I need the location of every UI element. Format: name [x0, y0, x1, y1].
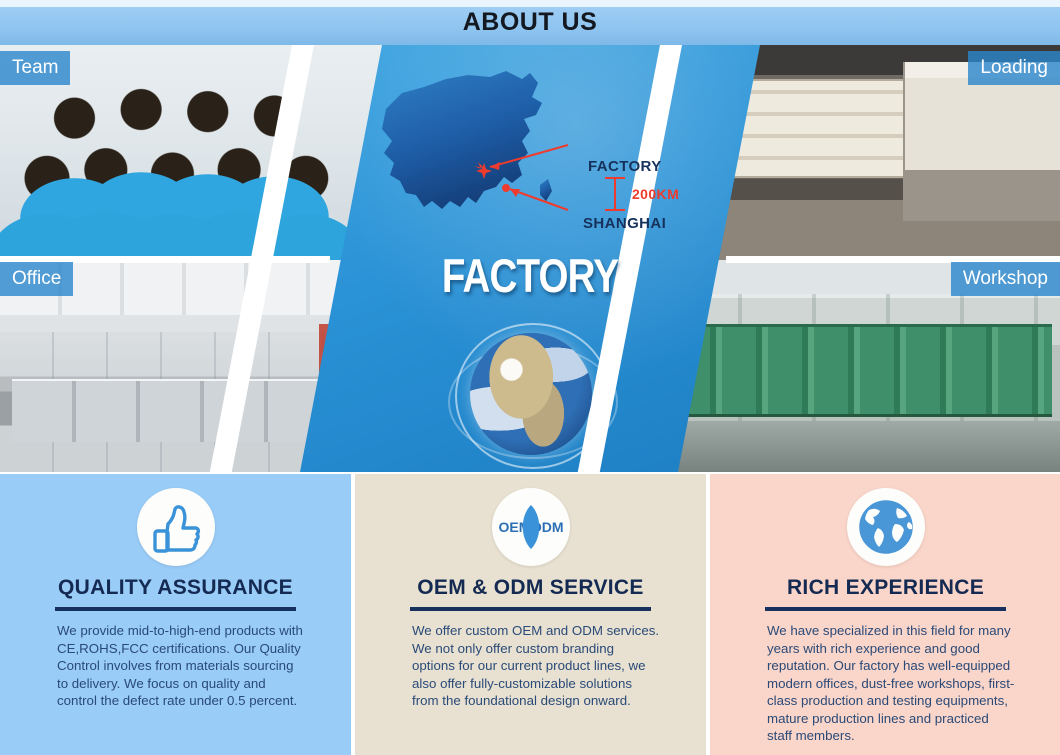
card-body: We provide mid-to-high-end products with…	[57, 622, 305, 710]
oem-odm-icon: OEM ODM	[492, 488, 570, 566]
photo-collage: FACTORY SHANGHAI 200KM FACTORY We Focus …	[0, 45, 1060, 472]
container-truck	[903, 62, 1060, 221]
page-title: ABOUT US	[0, 8, 1060, 37]
feature-card-oem-odm: OEM ODM OEM & ODM SERVICE We offer custo…	[355, 474, 706, 755]
card-body: We offer custom OEM and ODM services. We…	[412, 622, 660, 710]
china-map-icon	[372, 67, 572, 242]
distance-bar-icon	[614, 177, 616, 211]
card-title: QUALITY ASSURANCE	[0, 576, 351, 600]
map-callout-shanghai: SHANGHAI	[583, 215, 666, 232]
feature-card-experience: RICH EXPERIENCE We have specialized in t…	[710, 474, 1060, 755]
card-body: We have specialized in this field for ma…	[767, 622, 1015, 745]
workshop-floor	[668, 421, 1060, 472]
top-strip	[0, 0, 1060, 7]
photo-label-office: Office	[0, 262, 73, 296]
globe-icon	[847, 488, 925, 566]
earth-globe-icon	[470, 333, 592, 455]
card-title: OEM & ODM SERVICE	[355, 576, 706, 600]
photo-label-workshop: Workshop	[951, 262, 1060, 296]
card-title: RICH EXPERIENCE	[710, 576, 1060, 600]
photo-label-loading: Loading	[968, 51, 1060, 85]
production-line	[676, 324, 1052, 417]
card-underline	[765, 607, 1006, 611]
card-underline	[410, 607, 651, 611]
thumbs-up-icon	[137, 488, 215, 566]
factory-wordmark: FACTORY	[341, 248, 718, 303]
photo-label-team: Team	[0, 51, 70, 85]
team-uniforms	[0, 161, 392, 260]
card-underline	[55, 607, 296, 611]
about-us-banner: ABOUT US	[0, 0, 1060, 755]
map-callout-factory: FACTORY	[588, 158, 662, 175]
map-callout-distance: 200KM	[632, 186, 679, 202]
feature-cards: QUALITY ASSURANCE We provide mid-to-high…	[0, 474, 1060, 755]
feature-card-quality: QUALITY ASSURANCE We provide mid-to-high…	[0, 474, 351, 755]
